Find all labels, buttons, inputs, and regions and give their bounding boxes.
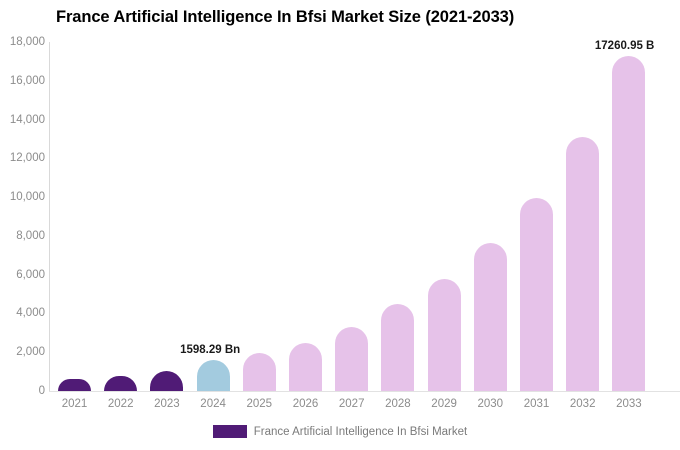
- bar[interactable]: [104, 376, 137, 392]
- legend-swatch: [213, 425, 247, 438]
- y-axis-tick-label: 4,000: [1, 307, 45, 319]
- chart-container: France Artificial Intelligence In Bfsi M…: [0, 0, 680, 450]
- bar[interactable]: [381, 304, 414, 391]
- bar[interactable]: [474, 243, 507, 391]
- chart-title: France Artificial Intelligence In Bfsi M…: [56, 8, 514, 27]
- x-axis-tick-label: 2033: [599, 398, 659, 410]
- y-axis-tick-label: 12,000: [1, 152, 45, 164]
- bar-value-label: 17260.95 B: [595, 40, 654, 52]
- bar[interactable]: [58, 379, 91, 391]
- bar[interactable]: [335, 327, 368, 391]
- y-axis-tick-label: 14,000: [1, 114, 45, 126]
- legend-label: France Artificial Intelligence In Bfsi M…: [254, 426, 467, 438]
- y-axis-tick-label: 8,000: [1, 230, 45, 242]
- bar[interactable]: [197, 360, 230, 391]
- y-axis-tick-label: 16,000: [1, 75, 45, 87]
- y-axis-ticks: 02,0004,0006,0008,00010,00012,00014,0001…: [0, 42, 45, 391]
- x-axis-line: [49, 391, 680, 392]
- plot-area: [49, 42, 680, 391]
- chart-legend: France Artificial Intelligence In Bfsi M…: [0, 425, 680, 438]
- bar[interactable]: [612, 56, 645, 391]
- bar-value-label: 1598.29 Bn: [180, 344, 240, 356]
- bar[interactable]: [243, 353, 276, 391]
- bar[interactable]: [289, 343, 322, 391]
- y-axis-tick-label: 2,000: [1, 346, 45, 358]
- y-axis-tick-label: 18,000: [1, 36, 45, 48]
- bar[interactable]: [150, 371, 183, 391]
- bar[interactable]: [428, 279, 461, 391]
- y-axis-tick-label: 0: [1, 385, 45, 397]
- bar[interactable]: [520, 198, 553, 391]
- y-axis-tick-label: 10,000: [1, 191, 45, 203]
- bar[interactable]: [566, 137, 599, 391]
- y-axis-tick-label: 6,000: [1, 269, 45, 281]
